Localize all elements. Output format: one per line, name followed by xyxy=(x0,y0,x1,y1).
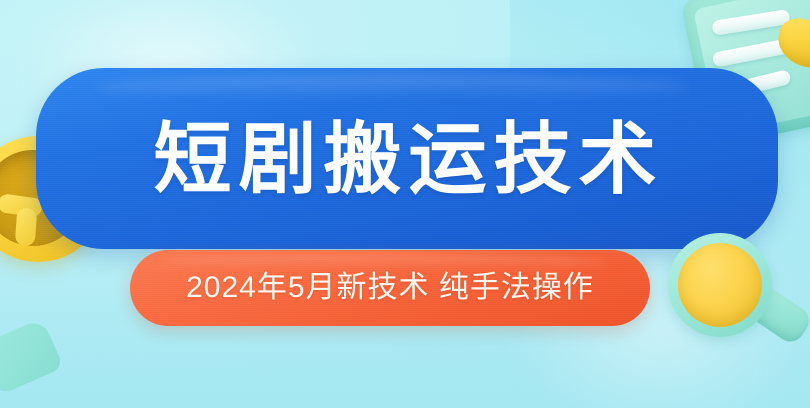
mint-pan-filling xyxy=(678,243,762,327)
poster-title: 短剧搬运技术 xyxy=(0,116,810,202)
poster-subtitle: 2024年5月新技术 纯手法操作 xyxy=(130,266,650,310)
mint-pan-icon xyxy=(666,233,810,363)
yellow-bowl-detail xyxy=(15,207,38,246)
promo-poster: 短剧搬运技术 2024年5月新技术 纯手法操作 xyxy=(0,0,810,408)
